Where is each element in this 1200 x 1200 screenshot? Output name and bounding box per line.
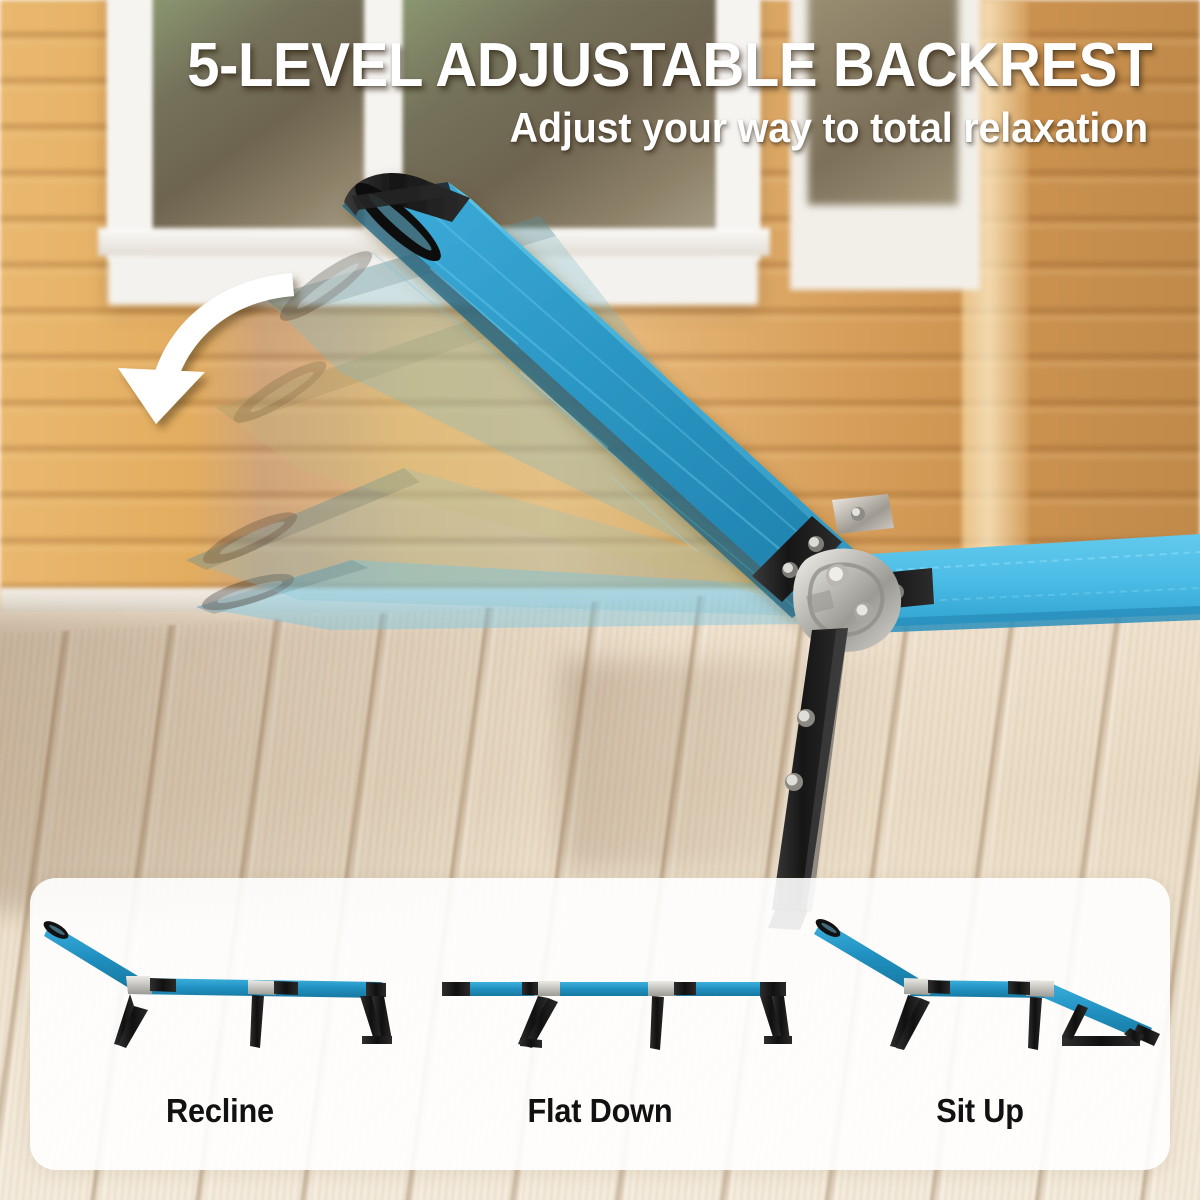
ratchet-hinge — [793, 548, 901, 651]
chair-recline-icon — [41, 918, 392, 1048]
product-feature-image: 5-LEVEL ADJUSTABLE BACKREST Adjust your … — [0, 0, 1200, 1200]
position-label-text: Sit Up — [936, 1092, 1024, 1130]
position-label-recline: Recline — [30, 1092, 410, 1152]
position-label-text: Recline — [166, 1092, 274, 1130]
page-subtitle: Adjust your way to total relaxation — [69, 104, 1148, 152]
position-label-sit-up: Sit Up — [790, 1092, 1170, 1152]
chair-sit-up-icon — [813, 915, 1160, 1050]
chair-flat-icon — [442, 981, 792, 1050]
position-label-text: Flat Down — [528, 1092, 673, 1130]
page-title: 5-LEVEL ADJUSTABLE BACKREST — [69, 30, 1152, 101]
position-label-flat-down: Flat Down — [410, 1092, 790, 1152]
position-labels: Recline Flat Down Sit Up — [30, 1092, 1170, 1152]
